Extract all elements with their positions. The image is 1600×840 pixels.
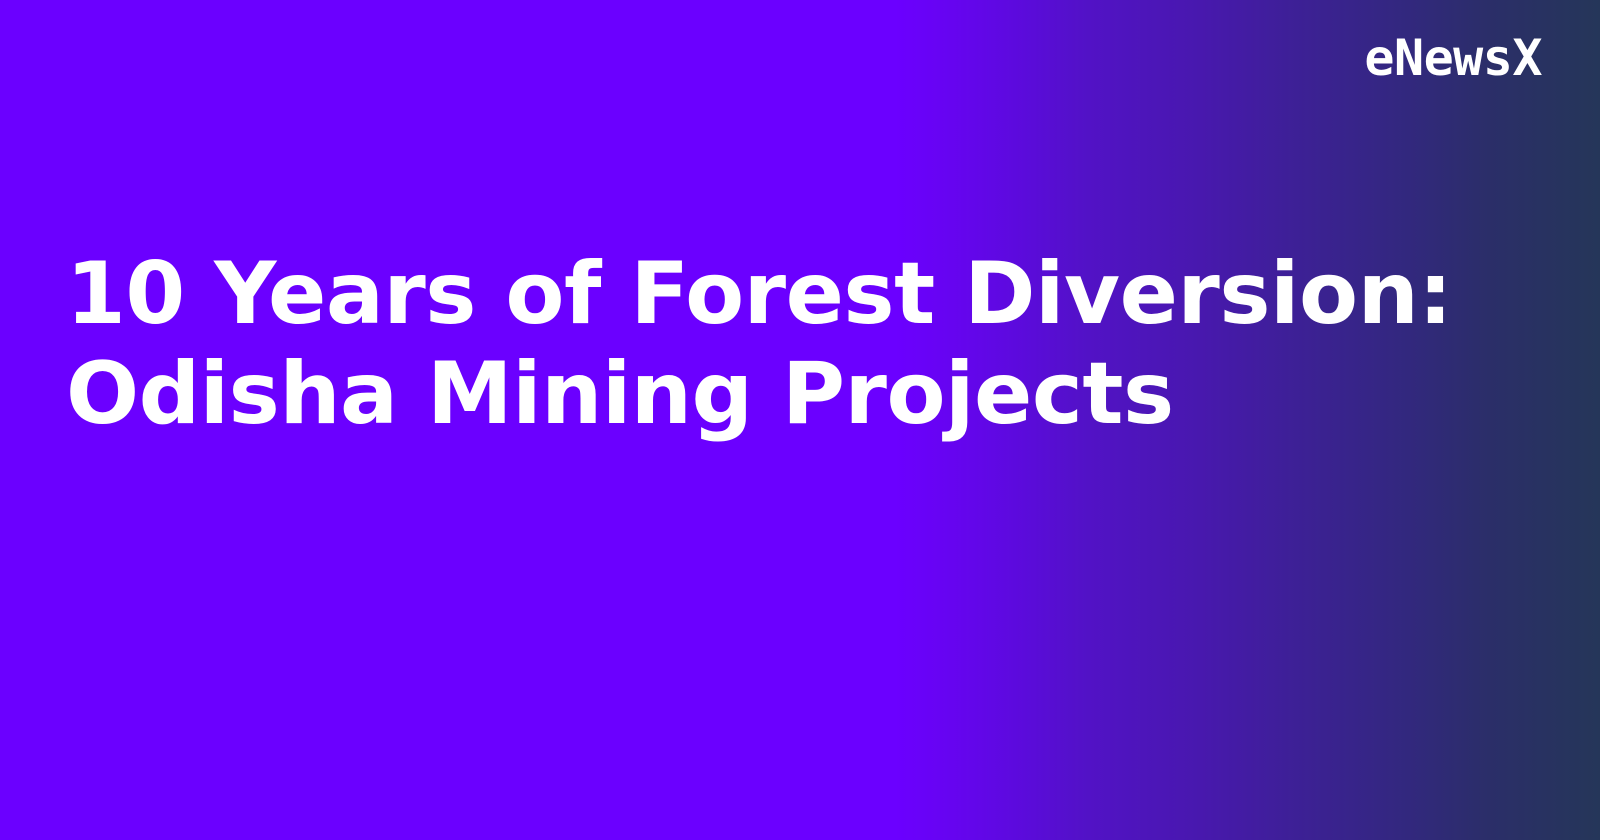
page-title: 10 Years of Forest Diversion: Odisha Min… (66, 244, 1452, 444)
headline-block: 10 Years of Forest Diversion: Odisha Min… (66, 244, 1452, 444)
title-card: eNewsX 10 Years of Forest Diversion: Odi… (0, 0, 1600, 840)
background-stage (0, 470, 1600, 840)
brand-wordmark: eNewsX (1364, 33, 1542, 83)
brand-logo[interactable]: eNewsX (1364, 33, 1542, 83)
